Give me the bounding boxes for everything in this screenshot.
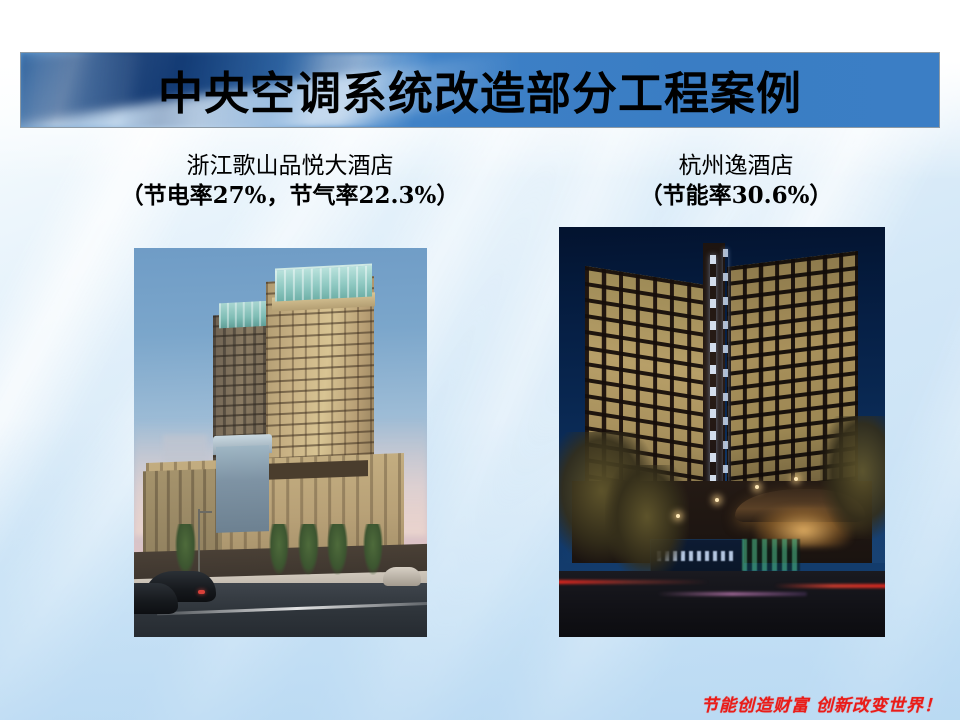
case-caption-left: 浙江歌山品悦大酒店 （节电率27%，节气率22.3%） bbox=[80, 152, 500, 211]
photo-corner-light-strip bbox=[723, 249, 728, 491]
photo-light-trail bbox=[559, 580, 709, 584]
photo-car bbox=[383, 567, 421, 586]
photo-tree bbox=[363, 524, 384, 575]
case-name-left: 浙江歌山品悦大酒店 bbox=[80, 152, 500, 181]
case-photo-right bbox=[559, 227, 885, 637]
photo-street-pole bbox=[198, 509, 200, 575]
photo-tower-secondary-crown bbox=[219, 301, 272, 329]
photo-tree bbox=[269, 524, 290, 575]
case-photo-right-image bbox=[559, 227, 885, 637]
presentation-slide: 中央空调系统改造部分工程案例 浙江歌山品悦大酒店 （节电率27%，节气率22.3… bbox=[0, 0, 960, 720]
case-photo-left-image bbox=[134, 248, 427, 637]
page-title: 中央空调系统改造部分工程案例 bbox=[21, 53, 939, 127]
photo-light-trail bbox=[657, 592, 807, 596]
photo-tower-main-crown bbox=[275, 263, 372, 301]
photo-streetlight bbox=[755, 485, 759, 489]
photo-tree bbox=[175, 524, 196, 575]
photo-tree bbox=[298, 524, 319, 575]
photo-hedge-lighting bbox=[742, 539, 801, 572]
photo-light-trail bbox=[774, 584, 885, 588]
case-photo-left bbox=[134, 248, 427, 637]
case-metrics-right: （节能率30.6%） bbox=[586, 181, 886, 210]
photo-tree bbox=[820, 416, 885, 539]
footer-slogan: 节能创造财富 创新改变世界！ bbox=[701, 691, 942, 716]
photo-entrance bbox=[216, 445, 269, 532]
case-metrics-left: （节电率27%，节气率22.3%） bbox=[80, 181, 500, 210]
photo-tree bbox=[605, 465, 690, 580]
photo-streetlight bbox=[794, 477, 798, 481]
title-banner: 中央空调系统改造部分工程案例 bbox=[20, 52, 940, 128]
case-caption-right: 杭州逸酒店 （节能率30.6%） bbox=[586, 152, 886, 211]
photo-street-pole-arm bbox=[198, 511, 212, 513]
photo-tree bbox=[327, 524, 348, 575]
case-name-right: 杭州逸酒店 bbox=[586, 152, 886, 181]
photo-corner-light-strip bbox=[710, 255, 716, 503]
